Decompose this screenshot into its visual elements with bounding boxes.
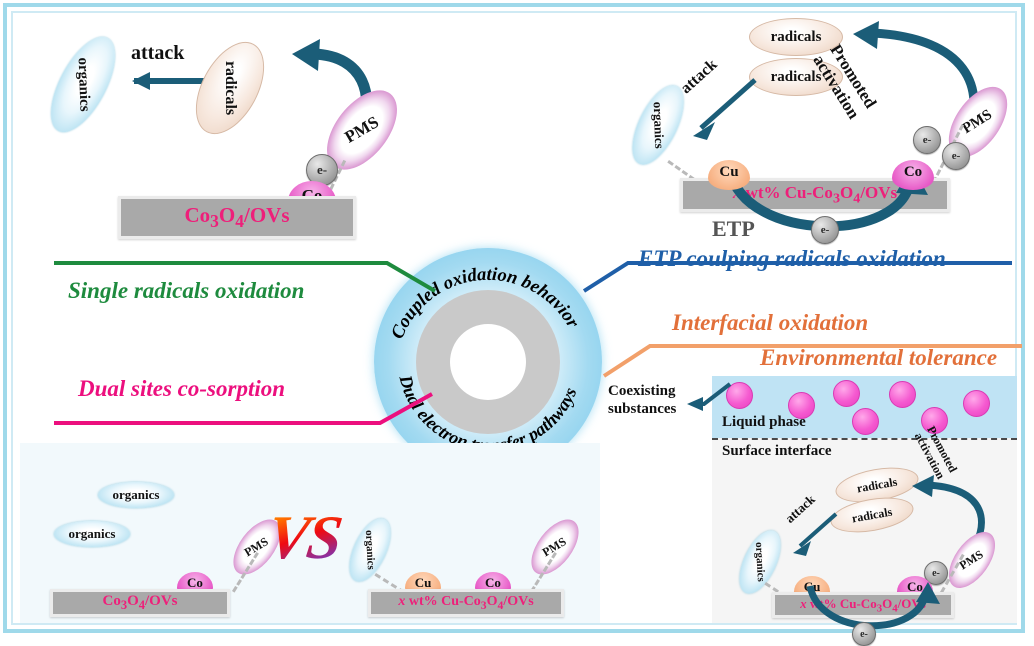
surface-interface-label: Surface interface — [722, 443, 832, 460]
co-site-tr: Co — [892, 160, 934, 190]
organics-label: organics — [363, 530, 377, 570]
co-site-label: Co — [904, 164, 922, 181]
slab-label: Co3O4/OVs — [184, 203, 289, 232]
electron-ball-etp: e- — [811, 216, 839, 244]
attack-arrow-br — [774, 506, 844, 571]
coexisting-substance-bubble — [833, 380, 860, 407]
slab-label: Co3O4/OVs — [102, 593, 177, 613]
panel-etp-coupling-radicals: radicals radicals attack organics Promot… — [612, 10, 1024, 255]
panel-dual-sites-co-sorption: organics organics PMS Co Co3O4/OVs VS or… — [20, 443, 600, 623]
slab-cu-co3o4-ovs-bl: x wt% Cu-Co3O4/OVs — [368, 589, 564, 617]
slab-co3o4-ovs-tl: Co3O4/OVs — [118, 196, 356, 239]
slab-label: x wt% Cu-Co3O4/OVs — [398, 594, 533, 612]
label-single-radicals-oxidation: Single radicals oxidation — [68, 278, 304, 304]
radicals-label: radicals — [771, 29, 822, 46]
label-interfacial-oxidation: Interfacial oxidation — [672, 310, 868, 336]
electron-ball-tr-2: e- — [942, 142, 970, 170]
cu-site-label: Cu — [719, 164, 738, 181]
slab-co3o4-ovs-bl: Co3O4/OVs — [50, 589, 230, 617]
panel-single-radicals-oxidation: organics attack radicals PMS e- — [18, 16, 418, 246]
organics-label: organics — [74, 57, 93, 112]
organics-label: organics — [753, 542, 767, 582]
organics-ellipse-bl-right: organics — [341, 512, 399, 587]
pms-label: PMS — [960, 106, 996, 137]
figure-canvas: organics attack radicals PMS e- — [0, 0, 1034, 642]
organics-ellipse-bl-2: organics — [54, 521, 130, 547]
electron-label: e- — [952, 150, 961, 162]
coexisting-substance-bubble — [963, 390, 990, 417]
electron-label: e- — [932, 568, 940, 579]
surface-interface-line — [712, 438, 1017, 440]
coexisting-substance-bubble — [852, 408, 879, 435]
electron-ball-tr-1: e- — [913, 126, 941, 154]
label-dual-sites-co-sorption: Dual sites co-sorption — [78, 376, 285, 402]
radicals-label: radicals — [851, 504, 894, 526]
label-etp-coupling-radicals-oxidation: ETP coulping radicals oxidation — [638, 246, 946, 272]
electron-label: e- — [923, 134, 932, 146]
coexisting-substances-arrow — [684, 378, 744, 418]
panel-environmental-tolerance: Liquid phase Surface interface radicals … — [712, 376, 1017, 623]
organics-label: organics — [69, 526, 116, 542]
vs-logo: VS — [263, 503, 345, 574]
radicals-label: radicals — [771, 69, 822, 86]
label-environmental-tolerance: Environmental tolerance — [760, 345, 997, 371]
electron-label: e- — [317, 162, 327, 178]
attack-label-tl: attack — [131, 42, 184, 65]
organics-ellipse-bl-1: organics — [98, 482, 174, 508]
organics-label: organics — [649, 101, 667, 148]
electron-ball-etp-br: e- — [852, 622, 876, 646]
etp-label: ETP — [712, 216, 755, 242]
electron-label: e- — [860, 629, 868, 640]
pms-label: PMS — [341, 112, 382, 147]
cu-site-tr: Cu — [708, 160, 750, 190]
organics-label: organics — [113, 487, 160, 503]
electron-label: e- — [821, 224, 830, 236]
radicals-label: radicals — [221, 61, 239, 115]
pms-ellipse-bl-right: PMS — [522, 511, 588, 583]
coexisting-substance-bubble — [889, 381, 916, 408]
